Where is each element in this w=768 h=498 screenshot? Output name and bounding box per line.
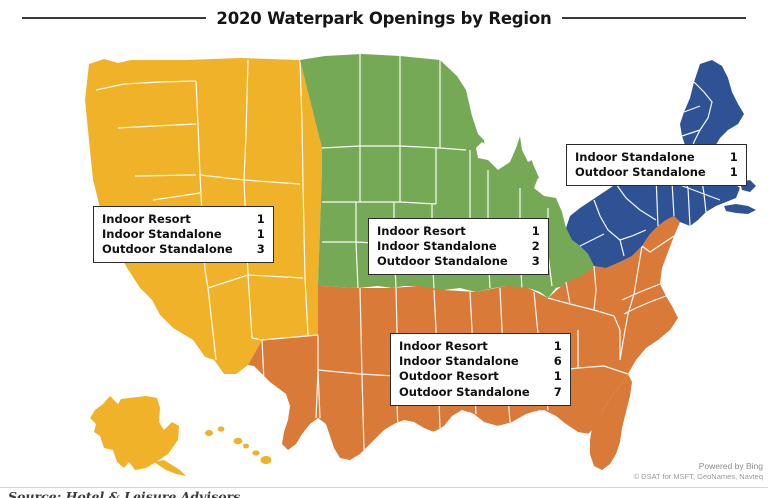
callout-south[interactable]: Indoor Resort 1 Indoor Standalone 6 Outd…	[390, 333, 571, 406]
callout-west-value-1: 1	[255, 226, 265, 241]
footer-divider	[0, 487, 768, 488]
callout-south-value-3: 7	[552, 384, 562, 399]
table-row: Indoor Resort 1	[377, 223, 540, 238]
callout-midwest-value-2: 3	[530, 254, 540, 269]
us-region-map[interactable]: Indoor Resort 1 Indoor Standalone 1 Outd…	[0, 30, 768, 480]
page-title: 2020 Waterpark Openings by Region	[216, 9, 551, 28]
table-row: Indoor Standalone 1	[575, 149, 738, 164]
callout-west-label-2: Outdoor Standalone	[102, 242, 255, 257]
title-rule-left	[22, 17, 206, 19]
callout-midwest-label-2: Outdoor Standalone	[377, 254, 530, 269]
callout-south-value-2: 1	[552, 369, 562, 384]
table-row: Outdoor Standalone 7	[399, 384, 562, 399]
callout-northeast-table: Indoor Standalone 1 Outdoor Standalone 1	[575, 149, 738, 180]
callout-south-value-0: 1	[552, 338, 562, 353]
chart-title-row: 2020 Waterpark Openings by Region	[0, 4, 768, 32]
bing-attribution: Powered by Bing	[699, 461, 763, 471]
callout-west-value-2: 3	[255, 242, 265, 257]
table-row: Indoor Resort 1	[399, 338, 562, 353]
callout-south-table: Indoor Resort 1 Indoor Standalone 6 Outd…	[399, 338, 562, 400]
callout-midwest-value-1: 2	[530, 238, 540, 253]
callout-northeast-label-1: Outdoor Standalone	[575, 164, 728, 179]
table-row: Indoor Standalone 2	[377, 238, 540, 253]
callout-midwest-label-1: Indoor Standalone	[377, 238, 530, 253]
callout-south-value-1: 6	[552, 353, 562, 368]
title-rule-right	[562, 17, 746, 19]
source-note: Source: Hotel & Leisure Advisors	[8, 490, 240, 498]
callout-midwest-table: Indoor Resort 1 Indoor Standalone 2 Outd…	[377, 223, 540, 269]
callout-west-table: Indoor Resort 1 Indoor Standalone 1 Outd…	[102, 211, 265, 257]
table-row: Indoor Resort 1	[102, 211, 265, 226]
waterpark-openings-map-figure: 2020 Waterpark Openings by Region	[0, 0, 768, 498]
callout-midwest-value-0: 1	[530, 223, 540, 238]
callout-west-label-1: Indoor Standalone	[102, 226, 255, 241]
callout-northeast-value-1: 1	[728, 164, 738, 179]
table-row: Outdoor Standalone 3	[102, 242, 265, 257]
map-copyright-notice: © DSAT for MSFT, GeoNames, Navteq	[634, 472, 763, 481]
callout-northeast-label-0: Indoor Standalone	[575, 149, 728, 164]
callout-northeast[interactable]: Indoor Standalone 1 Outdoor Standalone 1	[566, 144, 747, 186]
callout-midwest-label-0: Indoor Resort	[377, 223, 530, 238]
callout-west[interactable]: Indoor Resort 1 Indoor Standalone 1 Outd…	[93, 206, 274, 263]
callout-midwest[interactable]: Indoor Resort 1 Indoor Standalone 2 Outd…	[368, 218, 549, 275]
callout-south-label-0: Indoor Resort	[399, 338, 552, 353]
table-row: Outdoor Standalone 1	[575, 164, 738, 179]
callout-south-label-2: Outdoor Resort	[399, 369, 552, 384]
table-row: Indoor Standalone 1	[102, 226, 265, 241]
table-row: Outdoor Standalone 3	[377, 254, 540, 269]
table-row: Outdoor Resort 1	[399, 369, 562, 384]
callout-west-value-0: 1	[255, 211, 265, 226]
table-row: Indoor Standalone 6	[399, 353, 562, 368]
callout-northeast-value-0: 1	[728, 149, 738, 164]
callout-south-label-3: Outdoor Standalone	[399, 384, 552, 399]
callout-south-label-1: Indoor Standalone	[399, 353, 552, 368]
callout-west-label-0: Indoor Resort	[102, 211, 255, 226]
